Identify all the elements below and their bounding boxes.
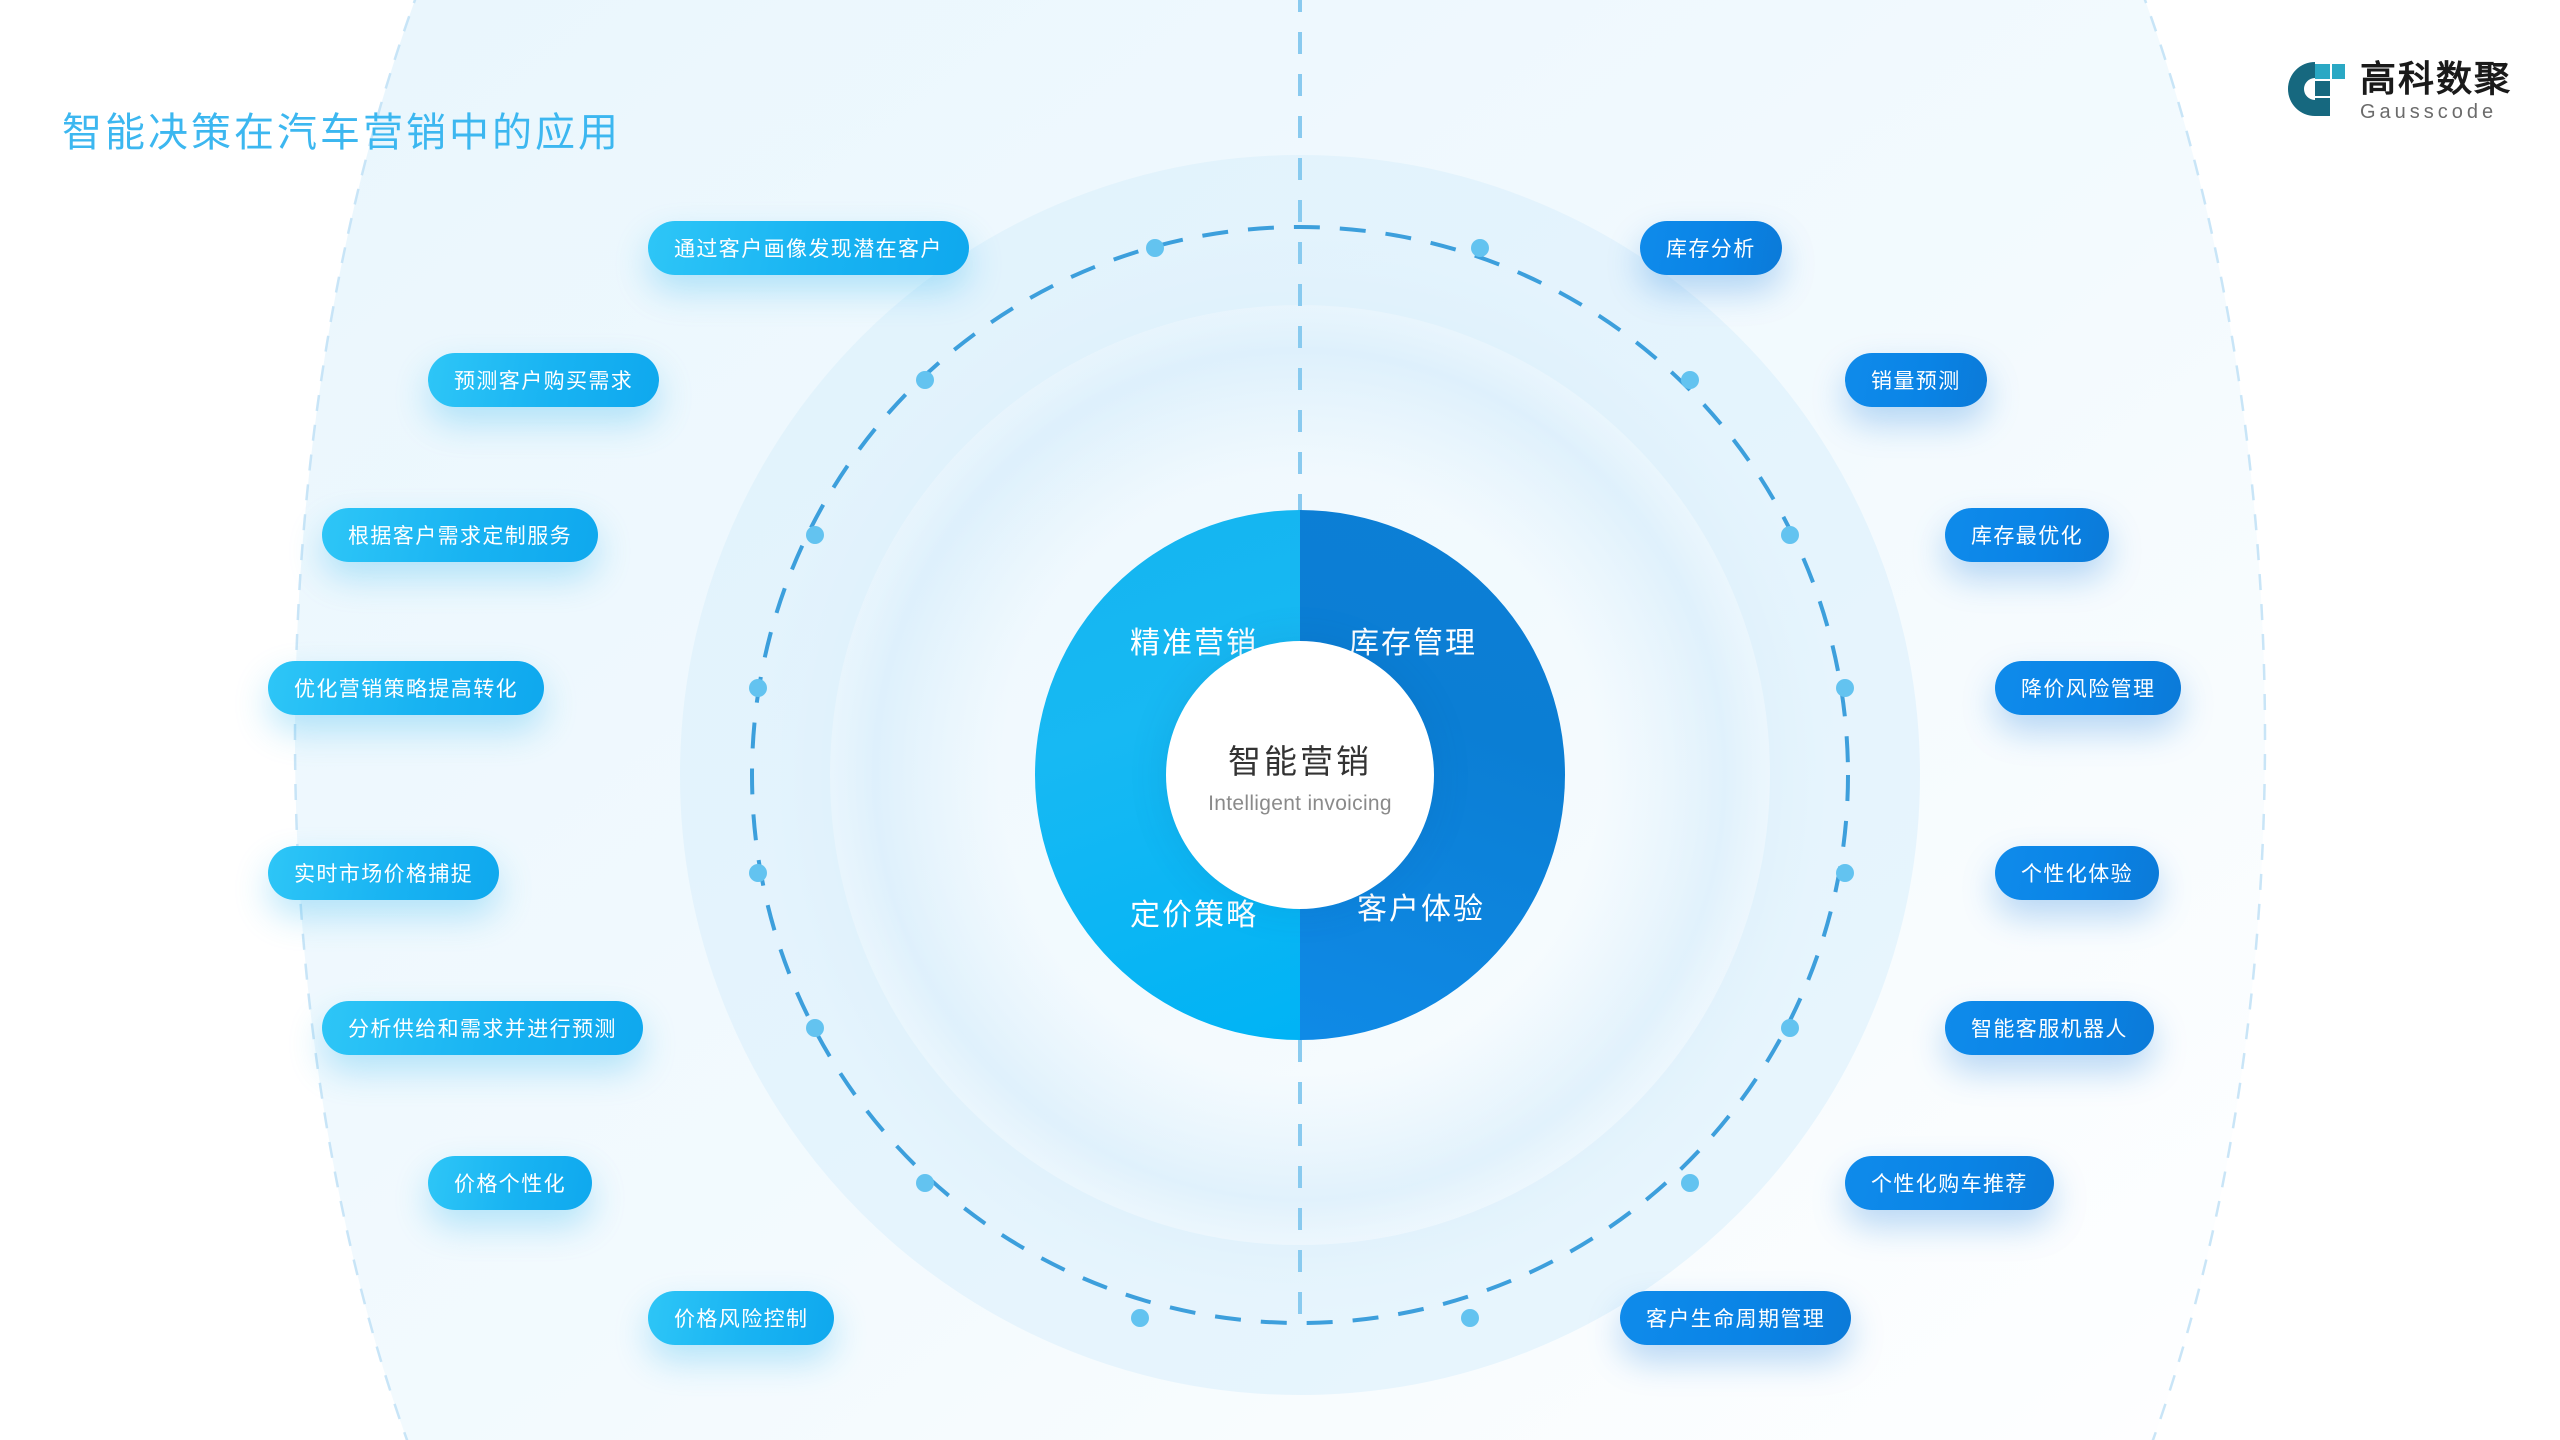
brand-logo: 高科数聚 Gausscode [2284,58,2512,124]
right-item-7[interactable]: 个性化购车推荐 [1845,1156,2054,1210]
right-item-3[interactable]: 库存最优化 [1945,508,2109,562]
logo-name-en: Gausscode [2360,100,2512,124]
logo-name-cn: 高科数聚 [2360,60,2512,98]
gausscode-logo-icon [2284,58,2346,120]
right-item-6[interactable]: 智能客服机器人 [1945,1001,2154,1055]
left-item-8[interactable]: 价格风险控制 [648,1291,834,1345]
left-item-5[interactable]: 实时市场价格捕捉 [268,846,499,900]
right-item-2[interactable]: 销量预测 [1845,353,1987,407]
page-title: 智能决策在汽车营销中的应用 [62,100,621,158]
hub-core: 智能营销 Intelligent invoicing [1166,641,1434,909]
hub-quadrant-bottom-left[interactable]: 定价策略 [1130,890,1258,934]
right-item-4[interactable]: 降价风险管理 [1995,661,2181,715]
left-item-6[interactable]: 分析供给和需求并进行预测 [322,1001,643,1055]
hub-quadrant-bottom-right[interactable]: 客户体验 [1357,884,1485,928]
left-item-4[interactable]: 优化营销策略提高转化 [268,661,544,715]
right-item-5[interactable]: 个性化体验 [1995,846,2159,900]
right-item-1[interactable]: 库存分析 [1640,221,1782,275]
infographic-canvas: 智能决策在汽车营销中的应用 高科数聚 Gausscode 精准营销 库存管理 定… [0,0,2560,1440]
left-item-7[interactable]: 价格个性化 [428,1156,592,1210]
left-item-2[interactable]: 预测客户购买需求 [428,353,659,407]
left-item-1[interactable]: 通过客户画像发现潜在客户 [648,221,969,275]
hub-quadrant-top-right[interactable]: 库存管理 [1349,618,1477,662]
hub-core-subtitle: Intelligent invoicing [1208,792,1392,816]
right-item-8[interactable]: 客户生命周期管理 [1620,1291,1851,1345]
hub-core-title: 智能营销 [1228,735,1372,783]
left-item-3[interactable]: 根据客户需求定制服务 [322,508,598,562]
